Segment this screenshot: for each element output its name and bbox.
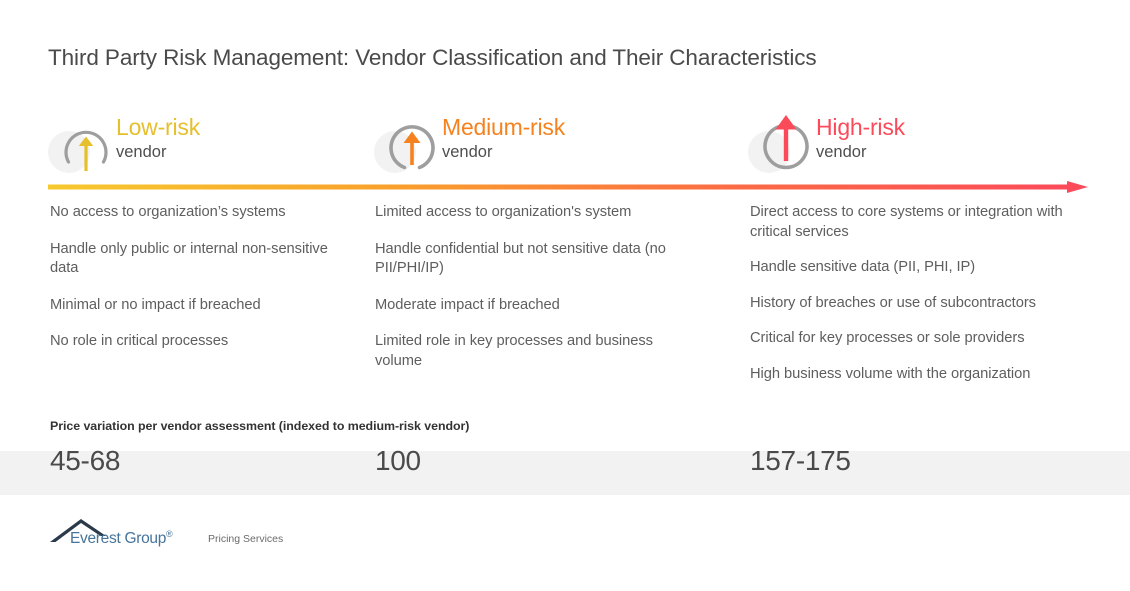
caption-strip xyxy=(0,433,1130,451)
risk-label-high: High-risk xyxy=(816,114,905,141)
bullet-list-medium: Limited access to organization's system … xyxy=(375,203,695,388)
price-variation-caption: Price variation per vendor assessment (i… xyxy=(50,418,473,434)
header-text-low: Low-risk vendor xyxy=(116,114,200,162)
list-item: Critical for key processes or sole provi… xyxy=(750,329,1090,349)
list-item: Handle sensitive data (PII, PHI, IP) xyxy=(750,258,1090,278)
gauge-medium-svg xyxy=(384,113,440,175)
list-item: Direct access to core systems or integra… xyxy=(750,203,1090,242)
price-value-medium: 100 xyxy=(375,445,421,477)
risk-sublabel-low: vendor xyxy=(116,142,200,162)
logo-name-text: Everest Group xyxy=(70,530,166,547)
bullet-list-low: No access to organization’s systems Hand… xyxy=(50,203,355,369)
gauge-arrow-medium-icon xyxy=(374,113,444,175)
header-text-high: High-risk vendor xyxy=(816,114,905,162)
risk-sublabel-high: vendor xyxy=(816,142,905,162)
gauge-arrow-high-icon xyxy=(748,113,818,175)
page-title: Third Party Risk Management: Vendor Clas… xyxy=(48,45,817,71)
infographic-page: Third Party Risk Management: Vendor Clas… xyxy=(0,0,1130,591)
gauge-high-svg xyxy=(758,113,814,175)
list-item: Minimal or no impact if breached xyxy=(50,296,355,316)
risk-sublabel-medium: vendor xyxy=(442,142,565,162)
price-value-low: 45-68 xyxy=(50,445,120,477)
list-item: Handle confidential but not sensitive da… xyxy=(375,240,695,279)
gauge-arrow-low-icon xyxy=(48,113,118,175)
logo-wordmark: Everest Group® xyxy=(70,529,172,548)
list-item: History of breaches or use of subcontrac… xyxy=(750,294,1090,314)
risk-gradient-arrow xyxy=(48,180,1088,194)
risk-label-medium: Medium-risk xyxy=(442,114,565,141)
price-value-high: 157-175 xyxy=(750,445,851,477)
header-text-medium: Medium-risk vendor xyxy=(442,114,565,162)
registered-mark: ® xyxy=(166,529,172,539)
list-item: Limited access to organization's system xyxy=(375,203,695,223)
list-item: High business volume with the organizati… xyxy=(750,365,1090,385)
risk-label-low: Low-risk xyxy=(116,114,200,141)
price-variation-band xyxy=(0,433,1130,495)
gauge-low-svg xyxy=(58,113,114,175)
list-item: No access to organization’s systems xyxy=(50,203,355,223)
list-item: Handle only public or internal non-sensi… xyxy=(50,240,355,279)
list-item: Limited role in key processes and busine… xyxy=(375,332,695,371)
logo-tagline: Pricing Services xyxy=(208,533,283,545)
list-item: No role in critical processes xyxy=(50,332,355,352)
bullet-list-high: Direct access to core systems or integra… xyxy=(750,203,1090,400)
list-item: Moderate impact if breached xyxy=(375,296,695,316)
